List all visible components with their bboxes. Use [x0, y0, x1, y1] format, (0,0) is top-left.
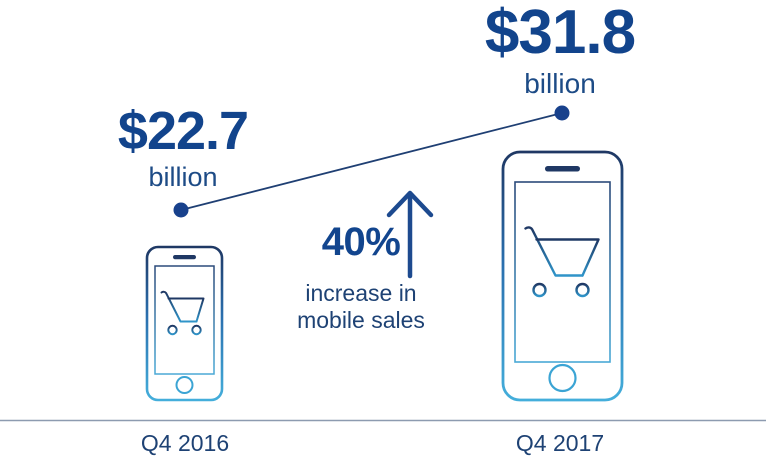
shopping-cart-icon-small	[162, 292, 204, 334]
axis-label-q4-2017: Q4 2017	[475, 430, 645, 457]
data-point-marker-2017	[555, 106, 570, 121]
callout-2017-unit: billion	[455, 70, 665, 98]
callout-2016: $22.7 billion	[88, 104, 278, 191]
growth-percent: 40%	[272, 222, 450, 262]
callout-2017: $31.8 billion	[455, 2, 665, 98]
callout-2017-amount: $31.8	[455, 2, 665, 64]
axis-label-q4-2016: Q4 2016	[110, 430, 260, 457]
growth-description: increase in mobile sales	[272, 280, 450, 334]
growth-description-line2: mobile sales	[272, 307, 450, 334]
callout-2016-amount: $22.7	[88, 104, 278, 158]
growth-description-line1: increase in	[305, 280, 416, 306]
infographic-canvas: $22.7 billion $31.8 billion 40% increase…	[0, 0, 766, 461]
smartphone-icon-2016	[147, 247, 222, 400]
shopping-cart-icon-large	[526, 227, 599, 296]
smartphone-icon-2017	[503, 152, 622, 400]
data-point-marker-2016	[174, 203, 189, 218]
growth-stat-block: 40% increase in mobile sales	[272, 222, 450, 334]
callout-2016-unit: billion	[88, 164, 278, 191]
